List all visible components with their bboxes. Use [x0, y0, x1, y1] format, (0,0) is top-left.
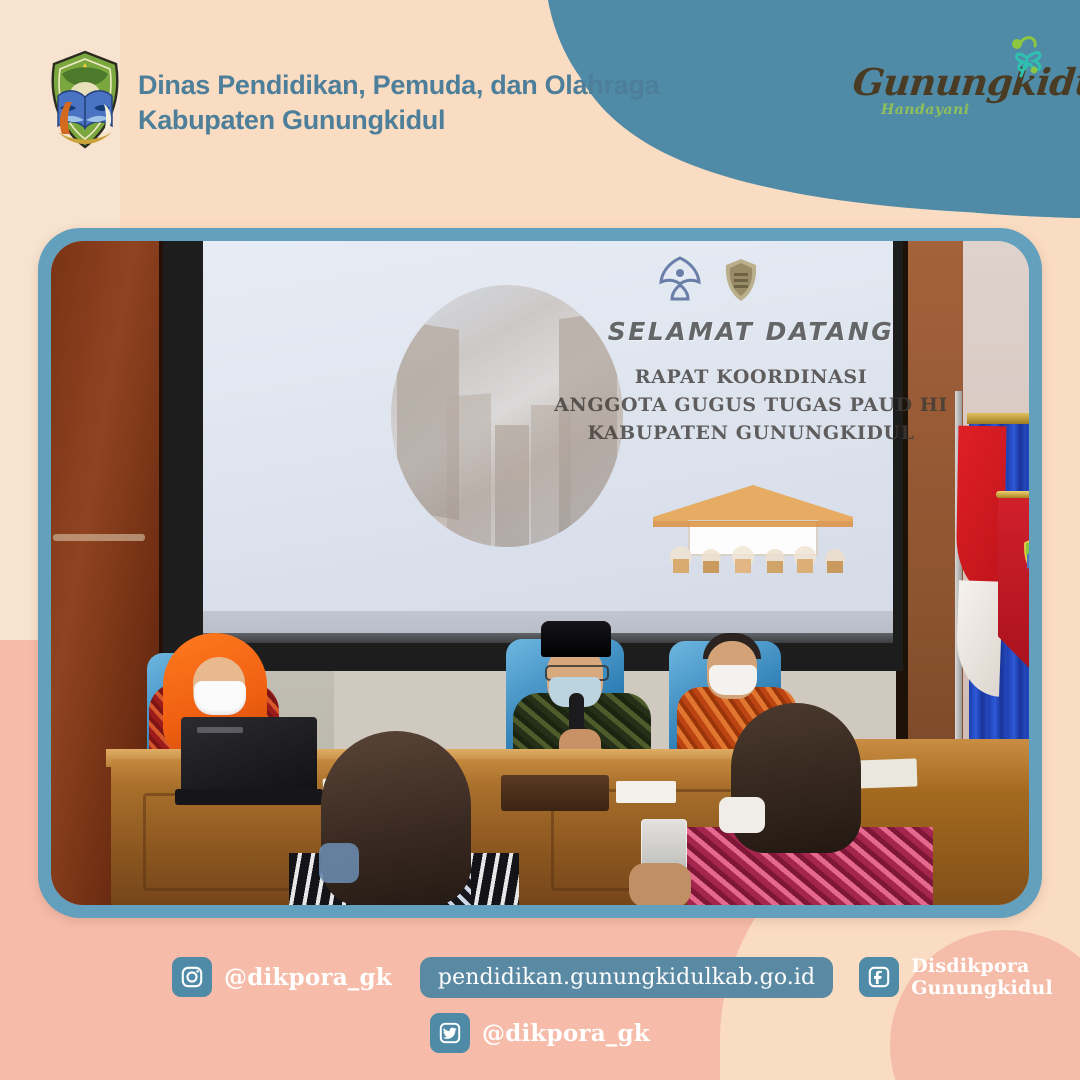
title-line-1: Dinas Pendidikan, Pemuda, dan Olahraga: [138, 70, 659, 100]
instagram-link[interactable]: @dikpora_gk: [172, 957, 392, 997]
laptop-keyboard: [175, 789, 323, 805]
website-badge[interactable]: pendidikan.gunungkidulkab.go.id: [420, 957, 833, 998]
butterfly-ornament-icon: [997, 30, 1053, 86]
gunungkidul-regency-crest-icon: [46, 50, 124, 150]
facebook-page-name[interactable]: Disdikpora Gunungkidul: [911, 955, 1080, 999]
curtain-rod: [967, 413, 1029, 424]
person-woman-orange-hijab-mask: [194, 681, 246, 715]
foreground-attendee-right-hand: [629, 863, 691, 905]
facebook-link[interactable]: Disdikpora Gunungkidul: [859, 955, 1080, 999]
brand-tagline: Handayani: [881, 102, 970, 118]
tut-wuri-handayani-logo-icon: [658, 255, 702, 303]
regency-emblem-icon: [723, 257, 759, 303]
pennant-crest-icon: [1023, 536, 1029, 580]
photo-frame: SELAMAT DATANG RAPAT KOORDINASI ANGGOTA …: [38, 228, 1042, 918]
slide-line-2: ANGGOTA GUGUS TUGAS PAUD HI: [551, 391, 951, 419]
foreground-attendee-right-mask: [719, 797, 765, 833]
slide-line-1: RAPAT KOORDINASI: [551, 363, 951, 391]
slide-school-illustration: [593, 477, 913, 573]
twitter-link[interactable]: @dikpora_gk: [430, 1013, 650, 1053]
twitter-icon[interactable]: [430, 1013, 470, 1053]
instagram-handle[interactable]: @dikpora_gk: [224, 964, 392, 991]
pennant-rod: [996, 491, 1029, 498]
meeting-photograph: SELAMAT DATANG RAPAT KOORDINASI ANGGOTA …: [51, 241, 1029, 905]
facebook-icon[interactable]: [859, 957, 899, 997]
twitter-handle[interactable]: @dikpora_gk: [482, 1020, 650, 1047]
projection-screen: SELAMAT DATANG RAPAT KOORDINASI ANGGOTA …: [203, 241, 893, 633]
footer-social-bar: @dikpora_gk pendidikan.gunungkidulkab.go…: [0, 945, 1080, 1080]
slide-welcome-text: SELAMAT DATANG: [586, 317, 916, 346]
laptop-brand-label: [197, 727, 243, 733]
footer-row-primary: @dikpora_gk pendidikan.gunungkidulkab.go…: [172, 955, 1080, 999]
instagram-icon[interactable]: [172, 957, 212, 997]
door-handle: [53, 534, 145, 541]
foreground-attendee-center-mask-strap: [319, 843, 359, 883]
person-man-orange-batik-mask: [709, 665, 757, 695]
slide-subject-text: RAPAT KOORDINASI ANGGOTA GUGUS TUGAS PAU…: [551, 363, 951, 447]
header: Dinas Pendidikan, Pemuda, dan Olahraga K…: [0, 0, 1080, 215]
page-title: Dinas Pendidikan, Pemuda, dan Olahraga K…: [138, 68, 758, 138]
slide-line-3: KABUPATEN GUNUNGKIDUL: [551, 419, 951, 447]
wooden-box-on-table: [501, 775, 609, 811]
gunungkidul-brand-logo: Gunungkidul Handayani: [845, 36, 1055, 131]
poster-canvas: Dinas Pendidikan, Pemuda, dan Olahraga K…: [0, 0, 1080, 1080]
person-man-peci-cap: [541, 621, 611, 657]
title-line-2: Kabupaten Gunungkidul: [138, 103, 758, 138]
papers-center: [616, 781, 676, 803]
